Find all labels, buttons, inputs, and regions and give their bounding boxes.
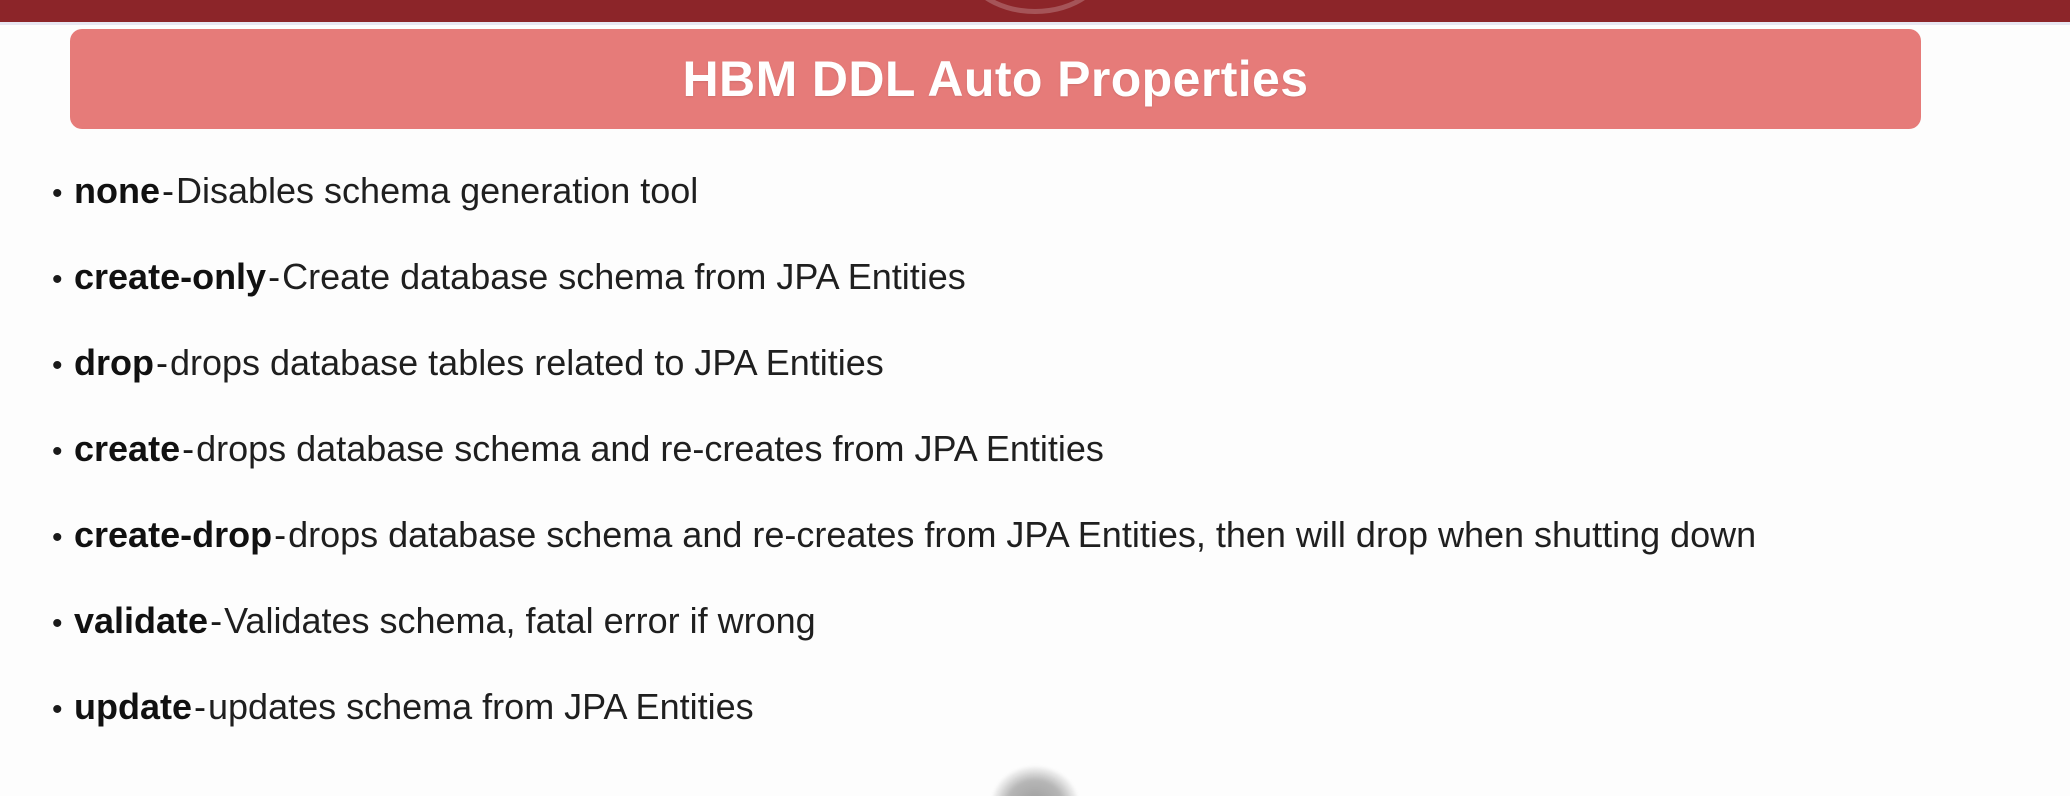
bullet-dot-icon: • [52,437,74,467]
list-item-description: Validates schema, fatal error if wrong [224,600,816,642]
page-title: HBM DDL Auto Properties [683,50,1309,108]
slide-canvas: HBM DDL Auto Properties • none - Disable… [0,0,2070,796]
list-item-separator: - [266,256,282,298]
list-item-key: validate [74,600,208,642]
list-item-key: drop [74,342,154,384]
list-item: • create-only - Create database schema f… [52,256,2052,342]
bullet-dot-icon: • [52,265,74,295]
bullet-dot-icon: • [52,179,74,209]
list-item: • create - drops database schema and re-… [52,428,2052,514]
list-item-description: Disables schema generation tool [176,170,698,212]
list-item-separator: - [192,686,208,728]
list-item-description: Create database schema from JPA Entities [282,256,966,298]
bullet-dot-icon: • [52,609,74,639]
list-item-description: drops database schema and re-creates fro… [196,428,1104,470]
list-item-key: create-only [74,256,266,298]
bottom-smudge-artifact [991,766,1079,796]
bullet-list: • none - Disables schema generation tool… [52,170,2052,772]
list-item: • none - Disables schema generation tool [52,170,2052,256]
list-item-description: drops database tables related to JPA Ent… [170,342,884,384]
list-item-key: create [74,428,180,470]
list-item-key: none [74,170,160,212]
list-item-separator: - [272,514,288,556]
list-item-key: update [74,686,192,728]
list-item-separator: - [154,342,170,384]
list-item: • create-drop - drops database schema an… [52,514,2052,600]
top-maroon-bar [0,0,2070,22]
list-item-separator: - [160,170,176,212]
slide-seam-divider [0,22,2070,25]
circle-arc-icon [960,0,1110,14]
list-item-separator: - [208,600,224,642]
list-item-key: create-drop [74,514,272,556]
list-item-separator: - [180,428,196,470]
bullet-dot-icon: • [52,695,74,725]
bullet-dot-icon: • [52,523,74,553]
list-item-description: drops database schema and re-creates fro… [288,514,1756,556]
list-item: • update - updates schema from JPA Entit… [52,686,2052,772]
list-item: • drop - drops database tables related t… [52,342,2052,428]
list-item-description: updates schema from JPA Entities [208,686,754,728]
list-item: • validate - Validates schema, fatal err… [52,600,2052,686]
bullet-dot-icon: • [52,351,74,381]
title-banner: HBM DDL Auto Properties [70,29,1921,129]
